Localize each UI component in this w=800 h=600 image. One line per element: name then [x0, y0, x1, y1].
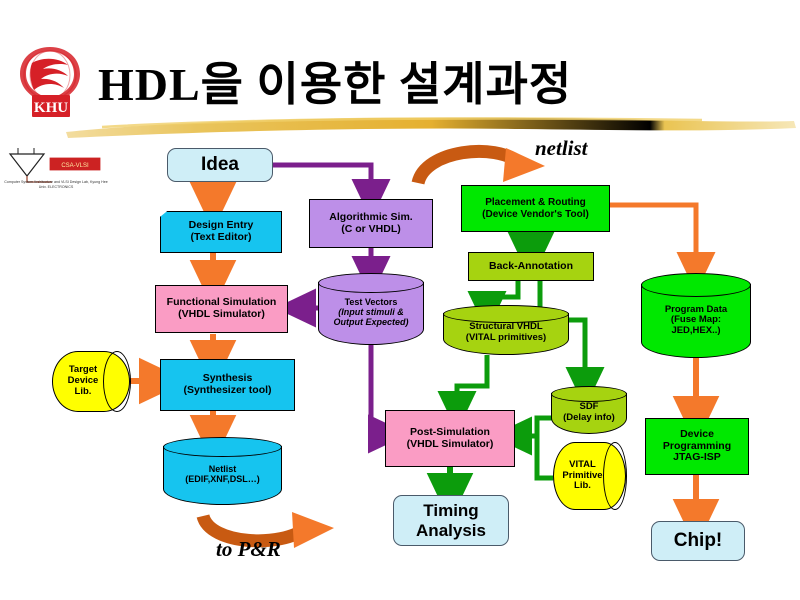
node-test-vectors-line2: (Input stimuli &: [333, 307, 408, 317]
node-chip[interactable]: Chip!: [651, 521, 745, 561]
node-program-data-line3: JED,HEX..): [665, 326, 727, 337]
node-netlist-store-line1: Netlist: [185, 464, 260, 474]
netlist-annotation: netlist: [535, 136, 588, 161]
slide-canvas: KHU HDL을 이용한 설계과정: [0, 0, 800, 600]
node-functional-simulation[interactable]: Functional Simulation (VHDL Simulator): [155, 285, 288, 333]
node-structural-vhdl-line2: (VITAL primitives): [466, 333, 546, 344]
svg-text:CSA-VLSI: CSA-VLSI: [61, 163, 89, 169]
node-placement-routing-line2: (Device Vendor's Tool): [482, 209, 589, 220]
page-title: HDL을 이용한 설계과정: [98, 48, 572, 114]
node-device-programming-line3: JTAG-ISP: [663, 452, 731, 464]
node-netlist-store[interactable]: Netlist (EDIF,XNF,DSL…): [163, 437, 282, 505]
node-functional-simulation-line2: (VHDL Simulator): [167, 309, 277, 321]
node-algorithmic-sim-line2: (C or VHDL): [329, 224, 412, 236]
to-pr-annotation: to P&R: [216, 537, 281, 562]
node-vital-primitive-lib-line1: VITAL: [562, 460, 602, 471]
node-timing-analysis-line2: Analysis: [416, 521, 486, 540]
node-device-programming-line1: Device: [663, 429, 731, 441]
node-chip-label: Chip!: [671, 530, 726, 551]
node-back-annotation[interactable]: Back-Annotation: [468, 252, 594, 281]
node-timing-analysis-line1: Timing: [416, 501, 486, 520]
node-test-vectors[interactable]: Test Vectors (Input stimuli & Output Exp…: [318, 273, 424, 345]
node-test-vectors-line1: Test Vectors: [333, 297, 408, 307]
node-algorithmic-sim[interactable]: Algorithmic Sim. (C or VHDL): [309, 199, 433, 248]
node-target-device-lib-line3: Lib.: [68, 387, 99, 398]
node-idea[interactable]: Idea: [167, 148, 273, 182]
node-placement-routing-line1: Placement & Routing: [482, 197, 589, 208]
node-synthesis-line2: (Synthesizer tool): [183, 385, 271, 397]
node-program-data[interactable]: Program Data (Fuse Map: JED,HEX..): [641, 273, 751, 358]
node-sdf-line2: (Delay info): [563, 413, 615, 424]
node-sdf[interactable]: SDF (Delay info): [551, 386, 627, 434]
node-test-vectors-line3: Output Expected): [333, 317, 408, 327]
node-synthesis[interactable]: Synthesis (Synthesizer tool): [160, 359, 295, 411]
node-structural-vhdl[interactable]: Structural VHDL (VITAL primitives): [443, 305, 569, 355]
node-placement-routing[interactable]: Placement & Routing (Device Vendor's Too…: [461, 185, 610, 232]
node-idea-label: Idea: [198, 154, 242, 175]
node-algorithmic-sim-line1: Algorithmic Sim.: [329, 212, 412, 224]
node-design-entry-line2: (Text Editor): [189, 232, 254, 244]
node-target-device-lib[interactable]: Target Device Lib.: [52, 351, 130, 412]
node-post-simulation-line1: Post-Simulation: [407, 427, 494, 439]
node-vital-primitive-lib-line3: Lib.: [562, 481, 602, 492]
node-back-annotation-label: Back-Annotation: [486, 261, 576, 273]
node-netlist-store-line2: (EDIF,XNF,DSL…): [185, 474, 260, 484]
node-post-simulation[interactable]: Post-Simulation (VHDL Simulator): [385, 410, 515, 467]
node-vital-primitive-lib[interactable]: VITAL Primitive Lib.: [553, 442, 626, 510]
node-device-programming[interactable]: Device Programming JTAG-ISP: [645, 418, 749, 475]
khu-logo: KHU: [12, 45, 90, 121]
node-timing-analysis[interactable]: Timing Analysis: [393, 495, 509, 546]
gold-divider: [62, 112, 798, 142]
node-design-entry[interactable]: Design Entry (Text Editor): [160, 211, 282, 253]
node-post-simulation-line2: (VHDL Simulator): [407, 439, 494, 451]
lab-caption: Computer System Architecture and VLSI De…: [4, 180, 108, 190]
